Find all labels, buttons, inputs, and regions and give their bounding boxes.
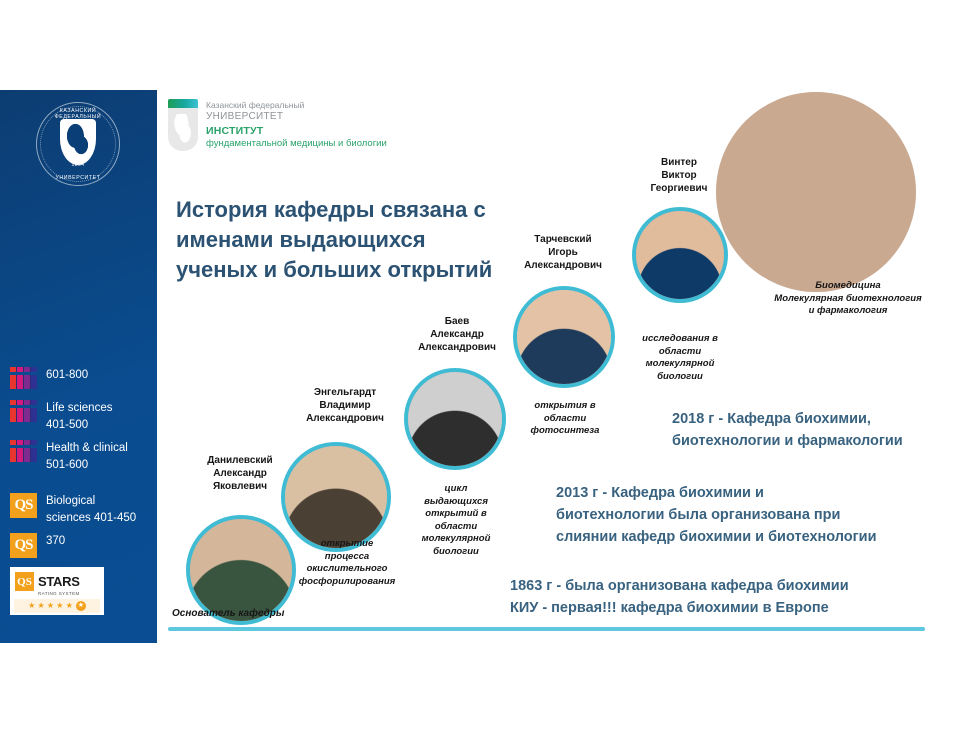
teal-divider [168,627,925,631]
institute-brand-logo: Казанский федеральный УНИВЕРСИТЕТ ИНСТИТ… [168,99,387,151]
label-engelgardt-name: Энгельгардт Владимир Александрович [278,386,412,425]
portrait-tarchevsky [517,290,611,384]
timeline-1863: 1863 г - была организована кафедра биохи… [510,575,950,619]
qs-stars-qs-mark: QS [15,572,34,591]
portrait-baev [408,372,502,466]
timeline-2013: 2013 г - Кафедра биохимии и биотехнологи… [556,482,956,548]
caption-baev: цикл выдающихся открытий в области молек… [403,483,509,558]
kfu-emblem-icon: Казанский федеральный 1804 Университет [36,102,120,186]
times-higher-education-logo-icon [10,400,37,422]
star-icon: ★ ★ ★ ★ ★ [28,602,73,610]
presentation-slide: Казанский федеральный 1804 Университет 6… [0,90,980,643]
qs-stars-rating: ★ ★ ★ ★ ★ ★ [14,599,100,613]
label-danilevsky-name: Данилевский Александр Яковлевич [178,454,302,493]
slide-headline: История кафедры связана с именами выдающ… [176,195,506,285]
timeline-2018: 2018 г - Кафедра биохимии, биотехнологии… [672,408,972,452]
qs-stars-subtitle: RATING SYSTEM [10,591,104,596]
founder-caption: Основатель кафедры [172,608,284,619]
caption-tarchevsky: открытия в области фотосинтеза [505,400,625,438]
emblem-year: 1804 [36,162,120,168]
qs-stars-word: STARS [38,574,80,589]
brand-line-institute-sub: фундаментальной медицины и биологии [206,138,387,150]
ranking-row-qs-biological-sciences: QS Biological sciences 401-450 [10,493,136,527]
ranking-row-qs-overall: QS 370 [10,533,65,558]
ranking-label: Health & clinical 501-600 [46,440,128,474]
ifmb-mark-icon [168,99,198,151]
ranking-label: 601-800 [46,367,88,384]
ranking-row-the-life-sciences: Life sciences 401-500 [10,400,112,434]
ranking-label: Life sciences 401-500 [46,400,112,434]
star-badge-icon: ★ [76,601,86,611]
sidebar: Казанский федеральный 1804 Университет 6… [0,90,157,643]
group-photo-biomedicine [716,92,916,292]
ranking-label: Biological sciences 401-450 [46,493,136,527]
portrait-danilevsky [190,519,292,621]
portrait-vinter [636,211,724,299]
caption-vinter: исследования в области молекулярной биол… [615,333,745,383]
brand-line-institute: ИНСТИТУТ [206,125,387,138]
ranking-row-the-health-clinical: Health & clinical 501-600 [10,440,128,474]
times-higher-education-logo-icon [10,440,37,462]
times-higher-education-logo-icon [10,367,37,389]
label-vinter-name: Винтер Виктор Георгиевич [613,156,745,195]
ranking-label: 370 [46,533,65,550]
qs-logo-icon: QS [10,493,37,518]
label-baev-name: Баев Александр Александрович [398,315,516,354]
caption-engelgardt: открытие процесса окислительного фосфори… [290,538,404,588]
label-tarchevsky-name: Тарчевский Игорь Александрович [495,233,631,272]
brand-line-university: УНИВЕРСИТЕТ [206,111,387,123]
qs-stars-badge: QS STARS RATING SYSTEM ★ ★ ★ ★ ★ ★ [10,567,104,615]
emblem-arc-bottom: Университет [36,175,120,181]
brand-line-university-prefix: Казанский федеральный [206,100,387,111]
qs-logo-icon: QS [10,533,37,558]
ranking-row-the-overall: 601-800 [10,367,88,389]
group-photo-caption: Биомедицина Молекулярная биотехнология и… [738,280,958,318]
